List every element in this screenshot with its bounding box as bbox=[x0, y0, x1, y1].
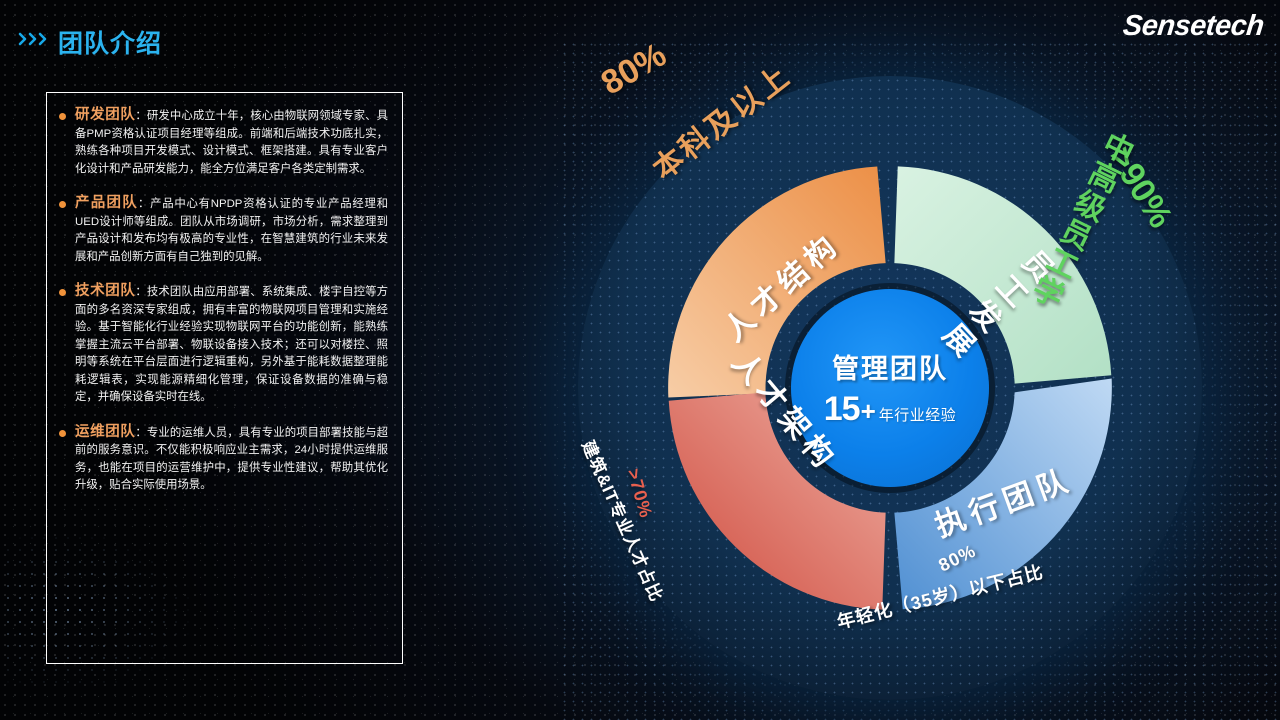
brand-logo: Sensetech bbox=[1122, 10, 1266, 43]
bullet-icon bbox=[59, 113, 66, 120]
paragraph-title: 研发团队 bbox=[75, 107, 135, 123]
paragraph-title: 运维团队 bbox=[75, 424, 135, 440]
hub-plus-sign: + bbox=[861, 396, 876, 427]
donut-center-hub: 管理团队 15 + 年行业经验 bbox=[791, 289, 989, 487]
list-item: 研发团队：研发中心成立十年，核心由物联网领域专家、具备PMP资格认证项目经理等组… bbox=[59, 107, 388, 178]
list-item: 技术团队：技术团队由应用部署、系统集成、楼宇自控等方面的多名资深专家组成，拥有丰… bbox=[59, 283, 388, 407]
bullet-icon bbox=[59, 430, 66, 437]
hub-title: 管理团队 bbox=[832, 347, 948, 386]
hub-years-unit: 年行业经验 bbox=[879, 404, 957, 425]
list-item: 产品团队：产品中心有NPDP资格认证的专业产品经理和UED设计师等组成。团队从市… bbox=[59, 195, 388, 266]
bullet-icon bbox=[59, 201, 66, 208]
triple-chevron-right-icon bbox=[18, 30, 52, 52]
paragraph-title: 技术团队 bbox=[75, 283, 135, 299]
bullet-icon bbox=[59, 289, 66, 296]
paragraph-title: 产品团队 bbox=[75, 195, 138, 211]
team-donut-chart: 管理团队 15 + 年行业经验 人才结构 员工发展 执行团队 人才架构 80% … bbox=[560, 58, 1220, 718]
paragraph-body: ：技术团队由应用部署、系统集成、楼宇自控等方面的多名资深专家组成，拥有丰富的物联… bbox=[75, 286, 388, 403]
hub-subtitle: 15 + 年行业经验 bbox=[824, 390, 957, 429]
hub-years-number: 15 bbox=[824, 390, 860, 429]
page-title: 团队介绍 bbox=[58, 24, 162, 60]
slide-root: 团队介绍 Sensetech 研发团队：研发中心成立十年，核心由物联网领域专家、… bbox=[0, 0, 1280, 720]
team-description-panel: 研发团队：研发中心成立十年，核心由物联网领域专家、具备PMP资格认证项目经理等组… bbox=[46, 92, 403, 664]
list-item: 运维团队：专业的运维人员，具有专业的项目部署技能与超前的服务意识。不仅能积极响应… bbox=[59, 424, 388, 495]
